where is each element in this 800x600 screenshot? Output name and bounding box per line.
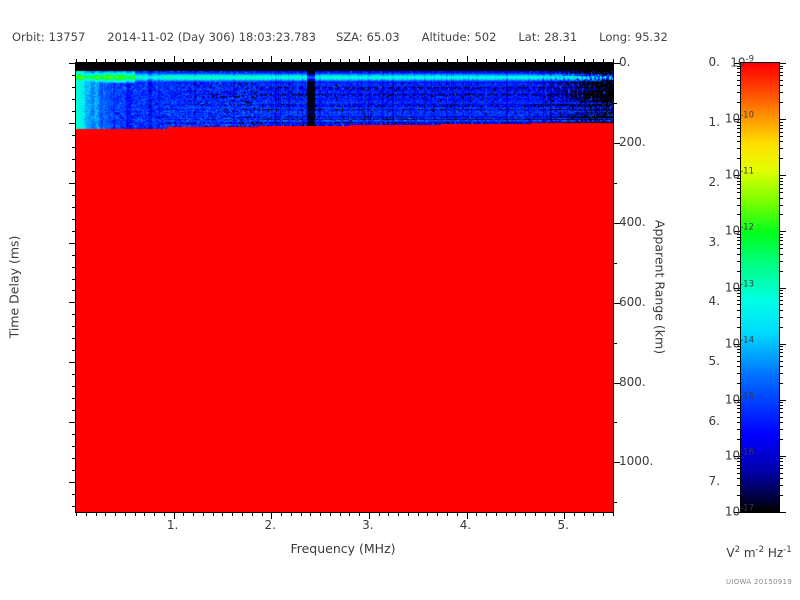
x-axis-minor-tick-top: [476, 59, 477, 63]
colorbar-major-tick-right: [779, 63, 786, 64]
colorbar-minor-tick: [737, 478, 741, 479]
colorbar-minor-tick-right: [779, 408, 783, 409]
colorbar-minor-tick-right: [779, 465, 783, 466]
header-info-bar: Orbit:13757 2014-11-02 (Day 306) 18:03:2…: [0, 30, 800, 46]
x-axis-minor-tick-top: [584, 59, 585, 63]
spectrogram-canvas: [76, 63, 613, 512]
x-axis-minor-tick-top: [496, 59, 497, 63]
x-axis-title: Frequency (MHz): [290, 541, 395, 556]
colorbar-major-tick-right: [779, 400, 786, 401]
x-axis-minor-tick-top: [213, 59, 214, 63]
x-axis-minor-tick: [388, 512, 389, 516]
colorbar-minor-tick-right: [779, 327, 783, 328]
x-axis-major-tick-top: [467, 56, 468, 63]
colorbar-minor-tick-right: [779, 158, 783, 159]
colorbar-minor-tick-right: [779, 346, 783, 347]
y-axis-tick-label: 5.: [660, 354, 720, 368]
y-axis-major-tick: [69, 63, 76, 64]
x-axis-minor-tick-top: [183, 59, 184, 63]
x-axis-minor-tick-top: [301, 59, 302, 63]
x-axis-minor-tick: [135, 512, 136, 516]
x-axis-minor-tick-top: [486, 59, 487, 63]
colorbar-major-tick-right: [779, 512, 786, 513]
colorbar-minor-tick: [737, 412, 741, 413]
y-axis-minor-tick: [72, 446, 76, 447]
x-axis-minor-tick: [76, 512, 77, 516]
colorbar-minor-tick: [737, 465, 741, 466]
x-axis-minor-tick-top: [320, 59, 321, 63]
y-axis-minor-tick: [72, 219, 76, 220]
colorbar-minor-tick-right: [779, 290, 783, 291]
colorbar-minor-tick-right: [779, 244, 783, 245]
colorbar-minor-tick-right: [779, 136, 783, 137]
ionogram-plot-area: [75, 62, 614, 513]
colorbar-major-tick-right: [779, 231, 786, 232]
colorbar-minor-tick: [737, 184, 741, 185]
x-axis-minor-tick-top: [154, 59, 155, 63]
colorbar-minor-tick-right: [779, 68, 783, 69]
colorbar-minor-tick-right: [779, 271, 783, 272]
colorbar-minor-tick-right: [779, 122, 783, 123]
x-axis-minor-tick: [183, 512, 184, 516]
header-orbit-key: Orbit:: [12, 30, 45, 44]
colorbar-minor-tick-right: [779, 412, 783, 413]
header-sza-key: SZA:: [336, 30, 363, 44]
x-axis-minor-tick-top: [105, 59, 106, 63]
colorbar-minor-tick-right: [779, 300, 783, 301]
x-axis-minor-tick-top: [281, 59, 282, 63]
colorbar-minor-tick: [737, 85, 741, 86]
x-axis-minor-tick: [427, 512, 428, 516]
header-lat-value: 28.31: [544, 30, 577, 44]
y-axis-title: Time Delay (ms): [7, 236, 22, 339]
y2-axis-minor-tick: [613, 422, 617, 423]
colorbar-tick-label: 10-17: [725, 504, 754, 519]
colorbar-minor-tick: [737, 383, 741, 384]
colorbar-minor-tick: [737, 373, 741, 374]
colorbar-minor-tick: [737, 92, 741, 93]
y-axis-major-tick: [69, 123, 76, 124]
x-axis-minor-tick-top: [457, 59, 458, 63]
colorbar-minor-tick: [737, 468, 741, 469]
colorbar-minor-tick-right: [779, 181, 783, 182]
x-axis-minor-tick: [593, 512, 594, 516]
colorbar-minor-tick-right: [779, 234, 783, 235]
x-axis-minor-tick-top: [535, 59, 536, 63]
x-axis-minor-tick: [222, 512, 223, 516]
header-lat-key: Lat:: [518, 30, 540, 44]
x-axis-minor-tick: [115, 512, 116, 516]
y-axis-major-tick: [69, 362, 76, 363]
colorbar-units-label: V2 m-2 Hz-1: [726, 545, 791, 560]
y-axis-minor-tick: [72, 350, 76, 351]
x-axis-minor-tick-top: [554, 59, 555, 63]
x-axis-minor-tick: [281, 512, 282, 516]
colorbar-minor-tick: [737, 361, 741, 362]
colorbar-minor-tick-right: [779, 356, 783, 357]
x-axis-tick-label: 5.: [543, 518, 583, 532]
y-axis-minor-tick: [72, 398, 76, 399]
y2-axis-tick-label: 400.: [619, 215, 679, 229]
colorbar-minor-tick-right: [779, 102, 783, 103]
y-axis-minor-tick: [72, 255, 76, 256]
colorbar-minor-tick: [737, 80, 741, 81]
x-axis-minor-tick-top: [330, 59, 331, 63]
colorbar-minor-tick-right: [779, 422, 783, 423]
y2-axis-title: Apparent Range (km): [653, 220, 668, 354]
x-axis-minor-tick-top: [545, 59, 546, 63]
colorbar-minor-tick-right: [779, 132, 783, 133]
colorbar-minor-tick-right: [779, 72, 783, 73]
x-axis-minor-tick: [379, 512, 380, 516]
x-axis-tick-label: 4.: [446, 518, 486, 532]
x-axis-minor-tick-top: [203, 59, 204, 63]
y2-axis-minor-tick: [613, 183, 617, 184]
x-axis-minor-tick: [545, 512, 546, 516]
colorbar-minor-tick-right: [779, 405, 783, 406]
y-axis-major-tick: [69, 243, 76, 244]
colorbar-tick-label: 10-13: [725, 279, 754, 294]
x-axis-minor-tick: [418, 512, 419, 516]
x-axis-minor-tick: [603, 512, 604, 516]
x-axis-minor-tick-top: [193, 59, 194, 63]
x-axis-minor-tick: [301, 512, 302, 516]
colorbar-minor-tick-right: [779, 178, 783, 179]
x-axis-major-tick-top: [174, 56, 175, 63]
colorbar-minor-tick: [737, 205, 741, 206]
x-axis-minor-tick-top: [613, 59, 614, 63]
y2-axis-minor-tick: [613, 103, 617, 104]
colorbar-minor-tick: [737, 102, 741, 103]
y-axis-tick-label: 7.: [660, 474, 720, 488]
x-axis-minor-tick-top: [135, 59, 136, 63]
colorbar-minor-tick-right: [779, 198, 783, 199]
credit-text: UIOWA 20150919: [726, 578, 792, 586]
colorbar-tick-label: 10-15: [725, 391, 754, 406]
x-axis-minor-tick: [310, 512, 311, 516]
x-axis-minor-tick-top: [437, 59, 438, 63]
colorbar-minor-tick-right: [779, 293, 783, 294]
colorbar-minor-tick: [737, 417, 741, 418]
x-axis-minor-tick-top: [340, 59, 341, 63]
colorbar-minor-tick-right: [779, 461, 783, 462]
x-axis-minor-tick: [203, 512, 204, 516]
header-altitude-key: Altitude:: [422, 30, 471, 44]
y-axis-minor-tick: [72, 458, 76, 459]
colorbar-minor-tick: [737, 261, 741, 262]
colorbar-minor-tick-right: [779, 439, 783, 440]
x-axis-minor-tick: [515, 512, 516, 516]
colorbar-minor-tick: [737, 304, 741, 305]
x-axis-minor-tick-top: [408, 59, 409, 63]
colorbar-minor-tick: [737, 317, 741, 318]
colorbar-minor-tick-right: [779, 429, 783, 430]
x-axis-minor-tick-top: [232, 59, 233, 63]
x-axis-minor-tick: [340, 512, 341, 516]
x-axis-minor-tick-top: [593, 59, 594, 63]
colorbar-major-tick-right: [779, 288, 786, 289]
x-axis-minor-tick: [252, 512, 253, 516]
x-axis-minor-tick: [291, 512, 292, 516]
colorbar-minor-tick-right: [779, 261, 783, 262]
colorbar-minor-tick-right: [779, 317, 783, 318]
colorbar-minor-tick: [737, 356, 741, 357]
x-axis-tick-label: 3.: [348, 518, 388, 532]
y-axis-minor-tick: [72, 87, 76, 88]
y-axis-major-tick: [69, 482, 76, 483]
y-axis-minor-tick: [72, 195, 76, 196]
x-axis-minor-tick-top: [262, 59, 263, 63]
x-axis-minor-tick: [154, 512, 155, 516]
x-axis-minor-tick-top: [125, 59, 126, 63]
x-axis-minor-tick: [506, 512, 507, 516]
y-axis-minor-tick: [72, 111, 76, 112]
x-axis-major-tick-top: [369, 56, 370, 63]
x-axis-minor-tick-top: [164, 59, 165, 63]
y-axis-major-tick: [69, 183, 76, 184]
colorbar-minor-tick-right: [779, 184, 783, 185]
colorbar-minor-tick: [737, 214, 741, 215]
colorbar-minor-tick: [737, 128, 741, 129]
y2-axis-tick-label: 600.: [619, 295, 679, 309]
y2-axis-tick-label: 1000.: [619, 454, 679, 468]
colorbar-minor-tick: [737, 192, 741, 193]
y-axis-minor-tick: [72, 147, 76, 148]
x-axis-minor-tick: [193, 512, 194, 516]
x-axis-minor-tick: [437, 512, 438, 516]
x-axis-minor-tick: [144, 512, 145, 516]
x-axis-minor-tick: [408, 512, 409, 516]
colorbar-minor-tick-right: [779, 352, 783, 353]
x-axis-minor-tick-top: [574, 59, 575, 63]
y2-axis-tick-label: 200.: [619, 135, 679, 149]
colorbar-minor-tick: [737, 188, 741, 189]
x-axis-minor-tick: [447, 512, 448, 516]
colorbar-minor-tick-right: [779, 125, 783, 126]
colorbar-minor-tick-right: [779, 205, 783, 206]
x-axis-minor-tick: [496, 512, 497, 516]
colorbar-minor-tick-right: [779, 80, 783, 81]
colorbar-minor-tick: [737, 310, 741, 311]
y-axis-minor-tick: [72, 267, 76, 268]
colorbar-major-tick-right: [779, 344, 786, 345]
colorbar-minor-tick-right: [779, 366, 783, 367]
x-axis-minor-tick: [262, 512, 263, 516]
y-axis-minor-tick: [72, 410, 76, 411]
colorbar-minor-tick-right: [779, 296, 783, 297]
x-axis-minor-tick-top: [222, 59, 223, 63]
colorbar-minor-tick: [737, 244, 741, 245]
colorbar-minor-tick-right: [779, 458, 783, 459]
x-axis-minor-tick: [476, 512, 477, 516]
y-axis-tick-label: 3.: [660, 235, 720, 249]
colorbar-minor-tick-right: [779, 383, 783, 384]
colorbar-minor-tick: [737, 132, 741, 133]
y-axis-minor-tick: [72, 338, 76, 339]
colorbar-minor-tick-right: [779, 478, 783, 479]
colorbar-major-tick-right: [779, 175, 786, 176]
y-axis-minor-tick: [72, 171, 76, 172]
y-axis-major-tick: [69, 302, 76, 303]
colorbar-minor-tick: [737, 473, 741, 474]
header-sza-value: 65.03: [367, 30, 400, 44]
x-axis-minor-tick: [232, 512, 233, 516]
y-axis-minor-tick: [72, 374, 76, 375]
colorbar-minor-tick-right: [779, 141, 783, 142]
x-axis-minor-tick: [105, 512, 106, 516]
header-orbit: Orbit:13757: [12, 30, 85, 44]
colorbar-minor-tick-right: [779, 468, 783, 469]
header-long-value: 95.32: [635, 30, 668, 44]
colorbar-minor-tick: [737, 72, 741, 73]
colorbar-minor-tick-right: [779, 214, 783, 215]
colorbar-tick-label: 10-9: [730, 55, 754, 70]
header-long: Long:95.32: [599, 30, 668, 44]
x-axis-minor-tick: [398, 512, 399, 516]
x-axis-minor-tick-top: [418, 59, 419, 63]
colorbar-minor-tick: [737, 198, 741, 199]
x-axis-minor-tick-top: [515, 59, 516, 63]
colorbar-minor-tick: [737, 408, 741, 409]
y-axis-minor-tick: [72, 279, 76, 280]
x-axis-minor-tick-top: [86, 59, 87, 63]
colorbar-minor-tick: [737, 141, 741, 142]
y-axis-minor-tick: [72, 75, 76, 76]
x-axis-minor-tick-top: [447, 59, 448, 63]
colorbar-minor-tick-right: [779, 75, 783, 76]
y-axis-tick-label: 6.: [660, 414, 720, 428]
colorbar-minor-tick: [737, 352, 741, 353]
x-axis-tick-label: 1.: [153, 518, 193, 532]
x-axis-minor-tick-top: [310, 59, 311, 63]
header-sza: SZA:65.03: [336, 30, 400, 44]
header-lat: Lat:28.31: [518, 30, 577, 44]
y-axis-minor-tick: [72, 207, 76, 208]
colorbar-tick-label: 10-12: [725, 223, 754, 238]
colorbar-minor-tick-right: [779, 237, 783, 238]
x-axis-minor-tick-top: [506, 59, 507, 63]
x-axis-minor-tick: [554, 512, 555, 516]
x-axis-major-tick-top: [564, 56, 565, 63]
colorbar-minor-tick: [737, 439, 741, 440]
y-axis-tick-label: 1.: [660, 115, 720, 129]
colorbar-minor-tick: [737, 300, 741, 301]
colorbar-minor-tick-right: [779, 66, 783, 67]
y-axis-minor-tick: [72, 231, 76, 232]
x-axis-minor-tick-top: [76, 59, 77, 63]
colorbar-minor-tick-right: [779, 248, 783, 249]
colorbar-minor-tick-right: [779, 304, 783, 305]
x-axis-minor-tick-top: [525, 59, 526, 63]
colorbar-minor-tick-right: [779, 192, 783, 193]
y-axis-minor-tick: [72, 470, 76, 471]
x-axis-tick-label: 2.: [250, 518, 290, 532]
x-axis-minor-tick-top: [115, 59, 116, 63]
x-axis-major-tick-top: [271, 56, 272, 63]
y2-axis-minor-tick: [613, 263, 617, 264]
colorbar-minor-tick: [737, 158, 741, 159]
colorbar-minor-tick: [737, 495, 741, 496]
colorbar-minor-tick: [737, 75, 741, 76]
colorbar-minor-tick: [737, 366, 741, 367]
x-axis-minor-tick-top: [379, 59, 380, 63]
x-axis-minor-tick: [574, 512, 575, 516]
y-axis-minor-tick: [72, 386, 76, 387]
y-axis-minor-tick: [72, 434, 76, 435]
x-axis-minor-tick: [535, 512, 536, 516]
y-axis-minor-tick: [72, 506, 76, 507]
x-axis-minor-tick: [359, 512, 360, 516]
y-axis-minor-tick: [72, 135, 76, 136]
colorbar-minor-tick: [737, 248, 741, 249]
colorbar-minor-tick-right: [779, 417, 783, 418]
colorbar-major-tick-right: [779, 119, 786, 120]
y2-axis-minor-tick: [613, 502, 617, 503]
x-axis-minor-tick-top: [427, 59, 428, 63]
colorbar-minor-tick-right: [779, 402, 783, 403]
colorbar-minor-tick: [737, 429, 741, 430]
x-axis-minor-tick-top: [349, 59, 350, 63]
y-axis-minor-tick: [72, 326, 76, 327]
colorbar-minor-tick-right: [779, 361, 783, 362]
x-axis-minor-tick: [125, 512, 126, 516]
colorbar-minor-tick-right: [779, 92, 783, 93]
y2-axis-tick-label: 0.: [619, 55, 679, 69]
x-axis-minor-tick-top: [291, 59, 292, 63]
colorbar-minor-tick-right: [779, 495, 783, 496]
header-altitude-value: 502: [474, 30, 496, 44]
x-axis-minor-tick: [457, 512, 458, 516]
colorbar-minor-tick: [737, 327, 741, 328]
x-axis-minor-tick-top: [242, 59, 243, 63]
x-axis-minor-tick: [525, 512, 526, 516]
header-orbit-value: 13757: [49, 30, 86, 44]
colorbar-minor-tick-right: [779, 85, 783, 86]
y-axis-major-tick: [69, 422, 76, 423]
colorbar-major-tick-right: [779, 456, 786, 457]
x-axis-minor-tick: [320, 512, 321, 516]
x-axis-minor-tick: [96, 512, 97, 516]
colorbar-minor-tick: [737, 271, 741, 272]
x-axis-minor-tick-top: [603, 59, 604, 63]
x-axis-minor-tick: [584, 512, 585, 516]
x-axis-minor-tick-top: [144, 59, 145, 63]
colorbar-minor-tick: [737, 296, 741, 297]
colorbar-minor-tick-right: [779, 188, 783, 189]
y2-axis-tick-label: 800.: [619, 375, 679, 389]
x-axis-minor-tick-top: [398, 59, 399, 63]
colorbar-tick-label: 10-10: [725, 111, 754, 126]
colorbar-minor-tick: [737, 422, 741, 423]
colorbar-minor-tick-right: [779, 254, 783, 255]
x-axis-minor-tick: [86, 512, 87, 516]
colorbar-minor-tick: [737, 148, 741, 149]
y-axis-minor-tick: [72, 290, 76, 291]
colorbar-minor-tick: [737, 136, 741, 137]
colorbar-minor-tick-right: [779, 310, 783, 311]
x-axis-minor-tick: [613, 512, 614, 516]
y-axis-minor-tick: [72, 99, 76, 100]
x-axis-minor-tick: [242, 512, 243, 516]
x-axis-minor-tick-top: [359, 59, 360, 63]
colorbar-minor-tick: [737, 254, 741, 255]
x-axis-minor-tick: [349, 512, 350, 516]
colorbar-minor-tick-right: [779, 485, 783, 486]
x-axis-minor-tick-top: [388, 59, 389, 63]
colorbar-minor-tick-right: [779, 373, 783, 374]
y-axis-minor-tick: [72, 159, 76, 160]
x-axis-minor-tick-top: [96, 59, 97, 63]
